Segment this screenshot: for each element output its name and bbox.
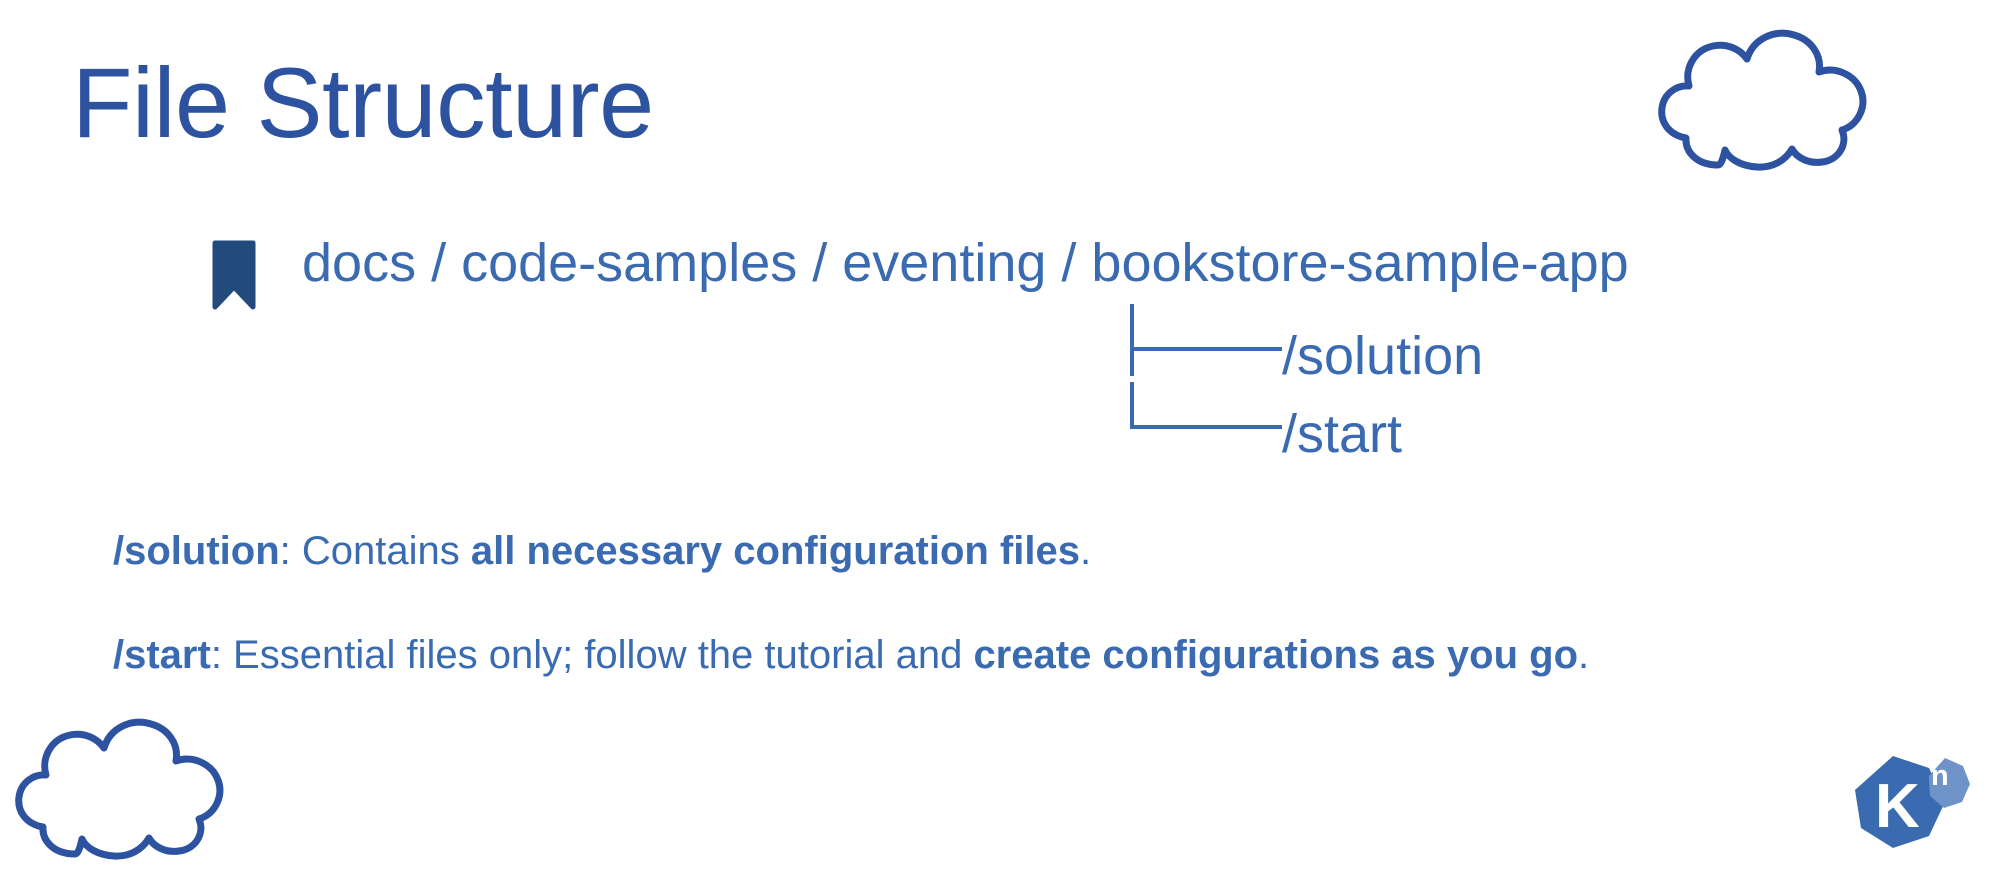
body-paragraph-start: /start: Essential files only; follow the… xyxy=(113,631,1589,679)
body-text-solution-mid: : Contains xyxy=(280,529,471,573)
tree-item-solution: /solution xyxy=(1130,318,1483,383)
body-term-solution: /solution xyxy=(113,529,280,573)
body-term-start: /start xyxy=(113,633,211,677)
breadcrumb-path-text: docs / code-samples / eventing / booksto… xyxy=(302,236,1629,290)
knative-logo: K n xyxy=(1845,752,1973,858)
body-paragraph-solution: /solution: Contains all necessary config… xyxy=(113,527,1091,575)
tree-item-label-solution: /solution xyxy=(1282,329,1483,383)
body-text-start-end: . xyxy=(1578,633,1589,677)
slide-canvas: File Structure docs / code-samples / eve… xyxy=(0,0,1999,877)
cloud-icon-top-right xyxy=(1655,26,1870,171)
tree-item-label-start: /start xyxy=(1282,407,1402,461)
cloud-icon-bottom-left xyxy=(12,715,227,860)
tree-branch-elbow-icon xyxy=(1130,396,1282,452)
body-emphasis-start: create configurations as you go xyxy=(973,633,1578,677)
body-emphasis-solution: all necessary configuration files xyxy=(471,529,1080,573)
page-title: File Structure xyxy=(72,48,654,159)
bookmark-icon xyxy=(212,240,256,310)
body-text-solution-end: . xyxy=(1080,529,1091,573)
knative-logo-letter-k: K xyxy=(1875,776,1919,838)
tree-item-start: /start xyxy=(1130,396,1402,461)
tree-branch-tee-icon xyxy=(1130,318,1282,374)
body-text-start-mid: : Essential files only; follow the tutor… xyxy=(211,633,974,677)
knative-logo-letter-n: n xyxy=(1931,762,1949,791)
breadcrumb: docs / code-samples / eventing / booksto… xyxy=(212,236,1629,310)
